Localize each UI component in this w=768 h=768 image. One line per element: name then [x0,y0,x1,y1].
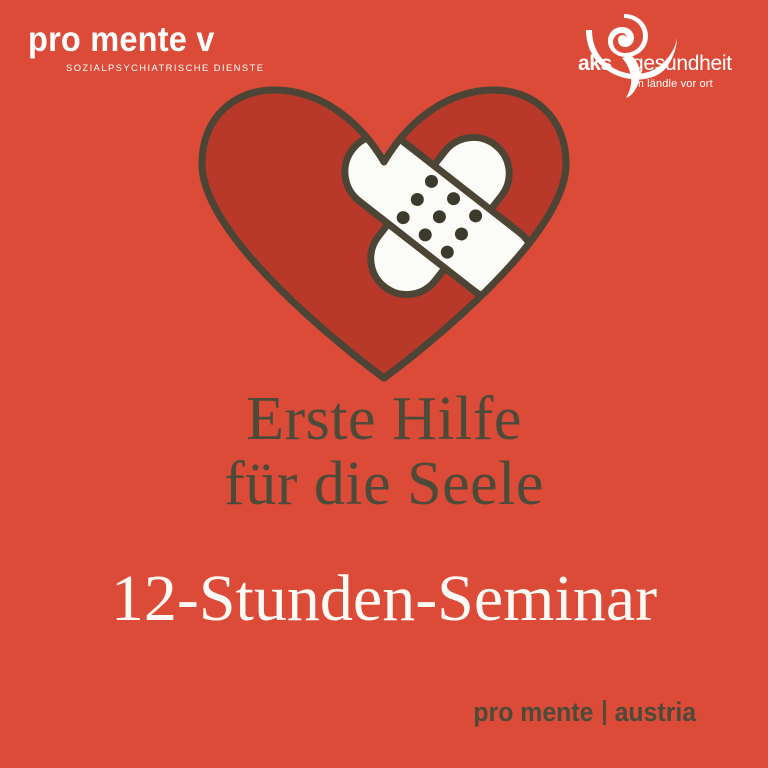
aks-gesundheit-logo[interactable]: aks gesundheit im ländle vor ort [576,12,746,98]
aks-tagline: im ländle vor ort [632,79,713,90]
title-line-1: Erste Hilfe [0,388,768,451]
pro-mente-austria-logo[interactable]: pro menteaustria [473,699,696,726]
seminar-subtitle: 12-Stunden-Seminar [0,566,768,632]
poster-canvas: pro mente v SOZIALPSYCHIATRISCHE DIENSTE… [0,0,768,768]
pro-mente-austria-left: pro mente [473,697,593,727]
aks-name: aks [578,53,612,74]
heart-with-bandage-illustration [178,76,590,388]
title-line-2: für die Seele [0,453,768,516]
aks-word-gesundheit: gesundheit [632,53,732,74]
page-title: Erste Hilfe für die Seele [0,388,768,516]
pro-mente-austria-divider [603,700,606,725]
pro-mente-v-wordmark: pro mente v [28,22,251,57]
pro-mente-v-tagline: SOZIALPSYCHIATRISCHE DIENSTE [66,64,264,74]
pro-mente-v-logo[interactable]: pro mente v SOZIALPSYCHIATRISCHE DIENSTE [28,22,268,74]
pro-mente-austria-right: austria [615,697,696,727]
